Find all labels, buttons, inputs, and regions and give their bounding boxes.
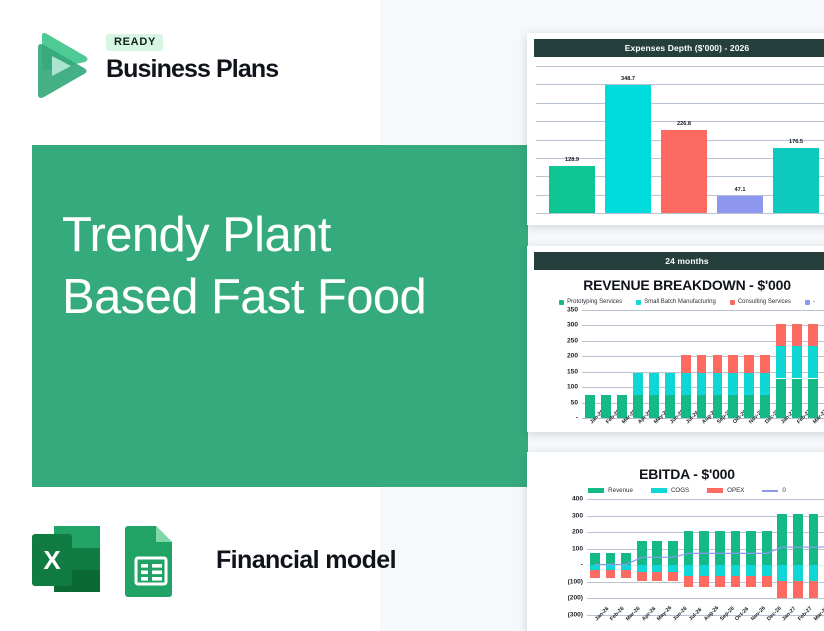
legend-swatch bbox=[730, 300, 735, 305]
chart3-plot-area: 400300200100-(100)(200)(300)Jan-26Feb-26… bbox=[587, 499, 824, 615]
poster-canvas: READY Business Plans Trendy Plant Based … bbox=[0, 0, 824, 631]
legend-swatch bbox=[636, 300, 641, 305]
gridline bbox=[536, 213, 824, 214]
bar-value-label: 128.9 bbox=[565, 157, 579, 163]
bar-segment bbox=[792, 379, 802, 418]
microsoft-excel-icon: X bbox=[30, 522, 102, 598]
legend-swatch bbox=[805, 300, 810, 305]
brand-logo-text: READY Business Plans bbox=[106, 32, 326, 83]
legend-item: Consulting Services bbox=[730, 299, 791, 305]
legend-swatch bbox=[588, 488, 604, 493]
legend-label: Consulting Services bbox=[738, 299, 791, 305]
bar-segment bbox=[681, 373, 691, 395]
bar-segment bbox=[697, 373, 707, 395]
gridline bbox=[536, 84, 824, 85]
gridline bbox=[536, 103, 824, 104]
bar-segment bbox=[681, 395, 691, 418]
chart1-plot-area: 128.9348.7226.847.1176.5 bbox=[536, 66, 824, 213]
bar-segment bbox=[697, 395, 707, 418]
bar-segment bbox=[713, 373, 723, 395]
y-axis-tick: - bbox=[576, 415, 578, 422]
bar-segment bbox=[649, 395, 659, 418]
legend-item: Small Batch Manufacturing bbox=[636, 299, 716, 305]
bar-segment bbox=[744, 355, 754, 373]
bar-segment bbox=[792, 346, 802, 378]
y-axis-tick: 200 bbox=[567, 353, 578, 360]
y-axis-tick: 50 bbox=[571, 399, 578, 406]
gridline bbox=[582, 325, 824, 326]
legend-label: Small Batch Manufacturing bbox=[644, 299, 716, 305]
y-axis-tick: 300 bbox=[567, 322, 578, 329]
bar-segment bbox=[776, 379, 786, 418]
bar-segment bbox=[633, 395, 643, 418]
bar-segment bbox=[760, 373, 770, 395]
financial-model-label: Financial model bbox=[216, 546, 396, 575]
y-axis-tick: 400 bbox=[572, 496, 583, 503]
bar-segment bbox=[808, 346, 818, 378]
y-axis-tick: 250 bbox=[567, 337, 578, 344]
y-axis-tick: (300) bbox=[568, 612, 583, 619]
legend-label: COGS bbox=[671, 487, 689, 494]
legend-swatch bbox=[707, 488, 723, 493]
bar-segment bbox=[808, 379, 818, 418]
chart3-title: EBITDA - $'000 bbox=[527, 466, 824, 482]
legend-label: OPEX bbox=[727, 487, 744, 494]
bar-segment bbox=[697, 355, 707, 373]
play-triangles-logo-icon bbox=[28, 30, 94, 98]
chart2-period-band: 24 months bbox=[534, 252, 824, 270]
chart-card-ebitda[interactable]: EBITDA - $'000 RevenueCOGSOPEX0 40030020… bbox=[527, 452, 824, 631]
legend-item: - bbox=[805, 299, 815, 305]
y-axis-tick: 150 bbox=[567, 368, 578, 375]
gridline bbox=[582, 341, 824, 342]
chart2-legend: Prototyping ServicesSmall Batch Manufact… bbox=[527, 299, 824, 305]
legend-item: OPEX bbox=[707, 487, 744, 494]
legend-swatch bbox=[559, 300, 564, 305]
bar-segment bbox=[776, 324, 786, 347]
legend-item: 0 bbox=[762, 487, 785, 494]
bar-segment bbox=[713, 355, 723, 373]
ebitda-line bbox=[587, 499, 824, 615]
chart-card-revenue-breakdown[interactable]: 24 months REVENUE BREAKDOWN - $'000 Prot… bbox=[527, 246, 824, 432]
y-axis-tick: 200 bbox=[572, 529, 583, 536]
y-axis-tick: 300 bbox=[572, 512, 583, 519]
chart3-legend: RevenueCOGSOPEX0 bbox=[527, 487, 824, 494]
y-axis-tick: 100 bbox=[567, 384, 578, 391]
bar bbox=[605, 85, 651, 213]
legend-label: 0 bbox=[782, 487, 785, 494]
bar-segment bbox=[665, 395, 675, 418]
bar-segment bbox=[649, 373, 659, 395]
hero-panel: Trendy Plant Based Fast Food bbox=[32, 145, 528, 487]
y-axis-tick: (100) bbox=[568, 578, 583, 585]
bar-segment bbox=[728, 373, 738, 395]
y-axis-tick: 100 bbox=[572, 545, 583, 552]
bar-segment bbox=[617, 395, 627, 418]
chart2-title: REVENUE BREAKDOWN - $'000 bbox=[527, 277, 824, 293]
brand-logo[interactable]: READY Business Plans bbox=[28, 28, 328, 100]
bar-segment bbox=[776, 346, 786, 378]
legend-label: Revenue bbox=[608, 487, 633, 494]
bar-segment bbox=[681, 355, 691, 373]
bar bbox=[717, 196, 763, 213]
format-row: X Financial model bbox=[30, 518, 396, 602]
bar-segment bbox=[665, 373, 675, 395]
legend-item: Revenue bbox=[588, 487, 633, 494]
gridline bbox=[536, 66, 824, 67]
legend-item: COGS bbox=[651, 487, 689, 494]
bar bbox=[549, 166, 595, 213]
y-axis-tick: (200) bbox=[568, 595, 583, 602]
chart2-plot-area: 35030025020015010050-Jan-26Feb-26Mar-26A… bbox=[582, 310, 824, 418]
y-axis-tick: 350 bbox=[567, 307, 578, 314]
bar-segment bbox=[728, 355, 738, 373]
chart1-title-band: Expenses Depth ($'000) - 2026 bbox=[534, 39, 824, 57]
bar-segment bbox=[792, 324, 802, 347]
chart-card-expenses-depth[interactable]: Expenses Depth ($'000) - 2026 128.9348.7… bbox=[527, 33, 824, 225]
bar-value-label: 348.7 bbox=[621, 76, 635, 82]
legend-swatch bbox=[762, 490, 778, 492]
bar bbox=[661, 130, 707, 213]
google-sheets-icon bbox=[122, 522, 184, 598]
bar-value-label: 47.1 bbox=[735, 187, 746, 193]
legend-item: Prototyping Services bbox=[559, 299, 622, 305]
bar-value-label: 176.5 bbox=[789, 139, 803, 145]
bar-segment bbox=[808, 324, 818, 347]
bar-segment bbox=[760, 355, 770, 373]
bar-segment bbox=[585, 395, 595, 418]
bar-segment bbox=[601, 395, 611, 418]
legend-label: Prototyping Services bbox=[567, 299, 622, 305]
brand-name: Business Plans bbox=[106, 56, 326, 83]
y-axis-tick: - bbox=[581, 562, 583, 569]
gridline bbox=[582, 310, 824, 311]
bar-segment bbox=[633, 373, 643, 395]
ready-badge: READY bbox=[106, 34, 163, 51]
bar-segment bbox=[744, 373, 754, 395]
page-title: Trendy Plant Based Fast Food bbox=[62, 205, 462, 328]
bar-value-label: 226.8 bbox=[677, 121, 691, 127]
legend-label: - bbox=[813, 299, 815, 305]
bar bbox=[773, 148, 819, 213]
legend-swatch bbox=[651, 488, 667, 493]
svg-text:X: X bbox=[43, 545, 61, 575]
